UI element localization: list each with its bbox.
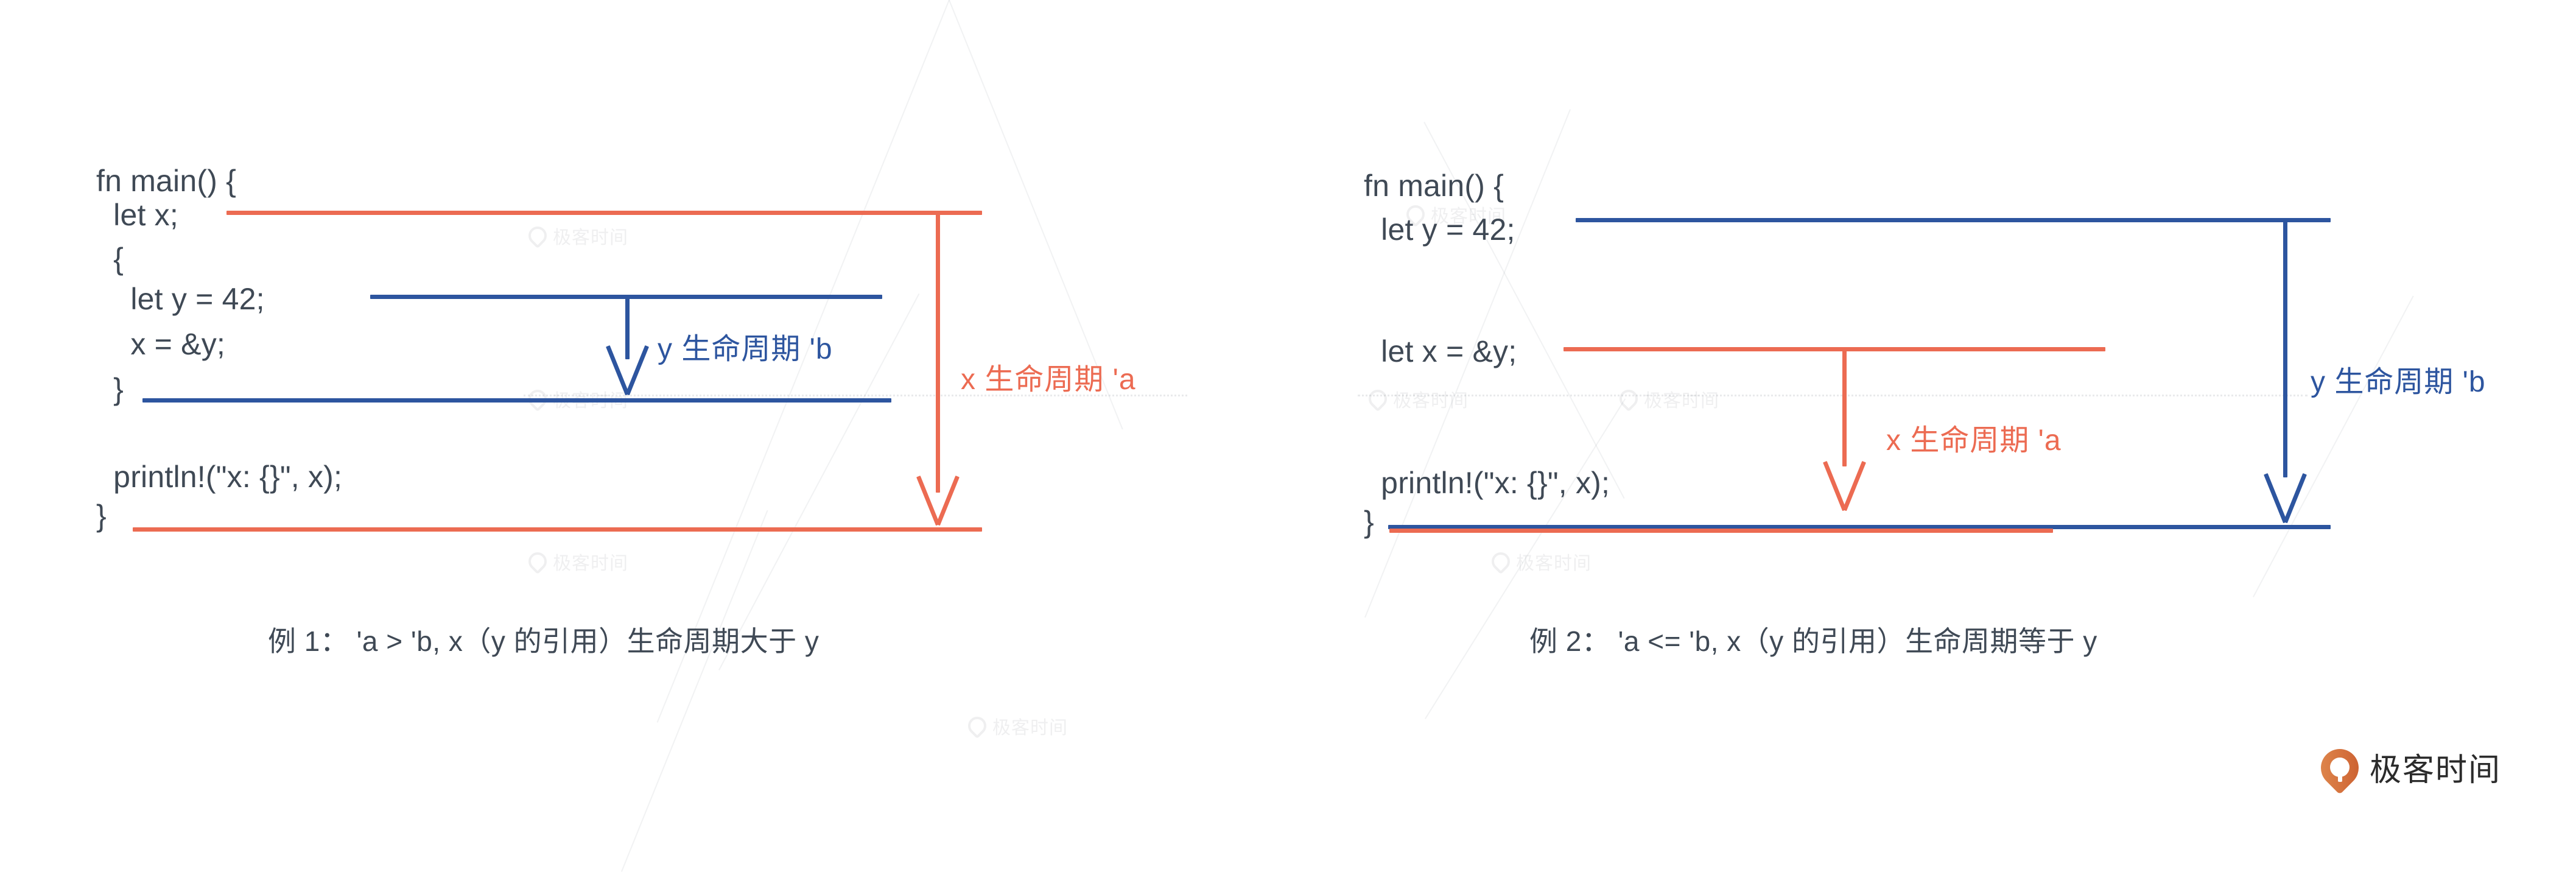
x-lifetime-start-line xyxy=(1563,347,2105,351)
code-line: fn main() { xyxy=(1364,171,1504,201)
code-line: let x = &y; xyxy=(1364,336,1517,367)
geektime-pin-icon xyxy=(2321,749,2359,792)
x-lifetime-end-line xyxy=(133,527,982,532)
x-lifetime-label: x 生命周期 'a xyxy=(961,365,1136,395)
code-line: let x; xyxy=(96,200,178,230)
code-line: x = &y; xyxy=(96,329,225,359)
code-line: { xyxy=(96,244,124,274)
y-lifetime-arrow-shaft xyxy=(2283,222,2287,477)
code-line: fn main() { xyxy=(96,166,236,196)
content-layer: fn main() { let x; { let y = 42; x = &y;… xyxy=(0,0,2576,871)
x-lifetime-arrow-shaft xyxy=(936,214,940,493)
code-line: } xyxy=(1364,507,1374,537)
code-line: println!("x: {}", x); xyxy=(96,462,342,492)
brand-logo: 极客时间 xyxy=(2321,749,2501,792)
brand-name: 极客时间 xyxy=(2370,754,2501,786)
code-line: } xyxy=(96,501,107,531)
code-line: let y = 42; xyxy=(1364,214,1515,245)
y-lifetime-arrow-shaft xyxy=(625,298,630,359)
x-lifetime-arrow-shaft xyxy=(1842,351,1847,466)
example-2-caption: 例 2： 'a <= 'b, x（y 的引用）生命周期等于 y xyxy=(1529,627,2097,655)
y-lifetime-start-line xyxy=(1576,218,2331,222)
x-lifetime-label: x 生命周期 'a xyxy=(1886,426,2062,455)
code-line: } xyxy=(96,374,124,404)
code-line: println!("x: {}", x); xyxy=(1364,468,1610,498)
x-lifetime-end-line xyxy=(1389,529,2053,533)
y-lifetime-label: y 生命周期 'b xyxy=(2311,368,2486,397)
code-line: let y = 42; xyxy=(96,284,265,314)
y-lifetime-label: y 生命周期 'b xyxy=(658,335,833,364)
example-1-caption: 例 1： 'a > 'b, x（y 的引用）生命周期大于 y xyxy=(268,627,819,655)
y-lifetime-end-line xyxy=(142,398,891,403)
diagram-canvas: 极客时间 极客时间 极客时间 极客时间 极客时间 极客时间 极客时间 极客时间 xyxy=(0,0,2576,871)
x-lifetime-start-line xyxy=(226,211,982,215)
